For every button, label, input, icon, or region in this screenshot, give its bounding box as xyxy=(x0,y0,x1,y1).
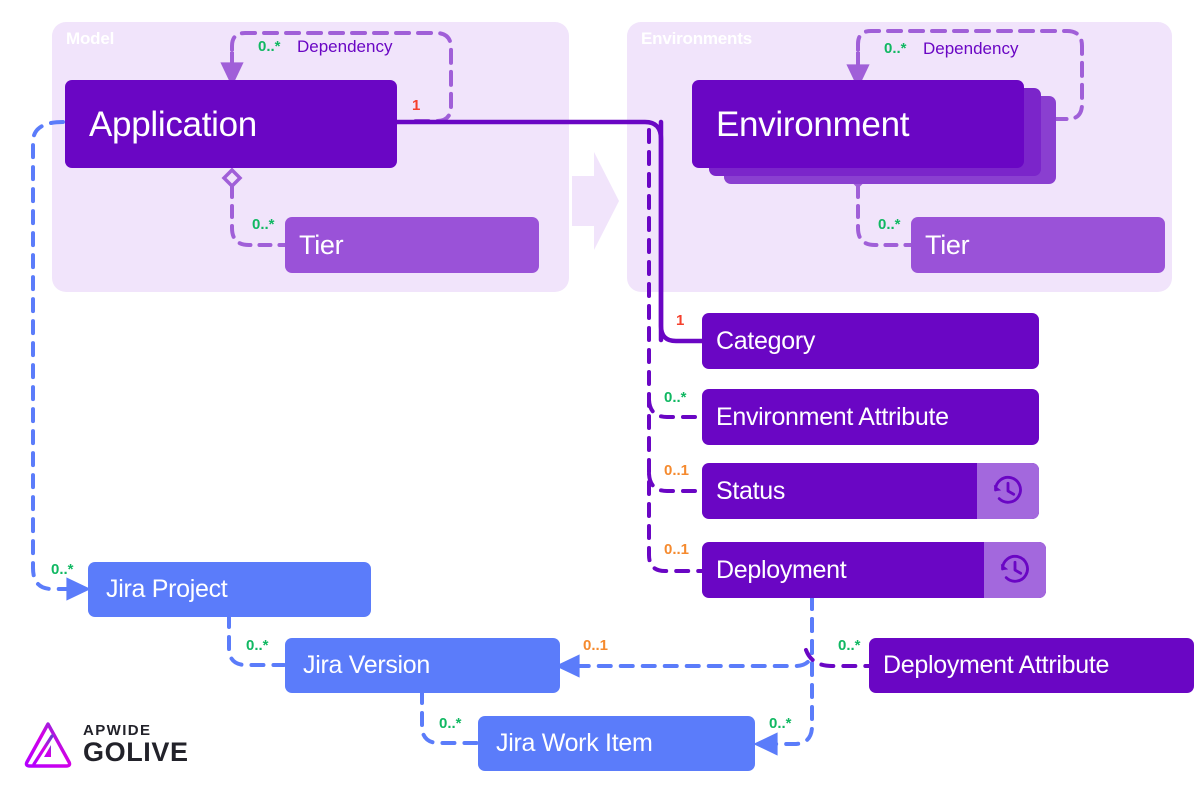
entity-jira-project-label: Jira Project xyxy=(88,577,227,602)
entity-deployment-attribute[interactable]: Deployment Attribute xyxy=(869,638,1194,693)
mult-deployment-deployment-attribute: 0..* xyxy=(838,638,861,653)
mult-environment-environment-attribute: 0..* xyxy=(664,390,687,405)
entity-environment-attribute-label: Environment Attribute xyxy=(702,405,949,430)
entity-tier-env[interactable]: Tier xyxy=(911,217,1165,273)
entity-jira-version-label: Jira Version xyxy=(285,653,430,678)
relname-environment-dependency: Dependency xyxy=(923,40,1018,57)
mult-application-jira-project: 0..* xyxy=(51,562,74,577)
mult-application-dependency-one: 1 xyxy=(412,98,420,113)
entity-environment[interactable]: Environment xyxy=(692,80,1024,168)
mult-environment-deployment: 0..1 xyxy=(664,542,689,557)
mult-application-dependency: 0..* xyxy=(258,39,281,54)
entity-category[interactable]: Category xyxy=(702,313,1039,369)
entity-category-label: Category xyxy=(702,329,815,354)
mult-application-tier: 0..* xyxy=(252,217,275,232)
mult-environment-status: 0..1 xyxy=(664,463,689,478)
entity-deployment-attribute-label: Deployment Attribute xyxy=(869,653,1109,678)
entity-tier-model-label: Tier xyxy=(285,232,343,259)
apwide-triangle-icon xyxy=(22,718,74,770)
mult-deployment-jira-version: 0..1 xyxy=(583,638,608,653)
mult-jira-project-jira-version: 0..* xyxy=(246,638,269,653)
entity-deployment-label: Deployment xyxy=(702,558,846,583)
mult-environment-dependency: 0..* xyxy=(884,41,907,56)
entity-tier-model[interactable]: Tier xyxy=(285,217,539,273)
entity-jira-project[interactable]: Jira Project xyxy=(88,562,371,617)
entity-application-label: Application xyxy=(65,107,257,142)
logo-brand-bottom: GOLIVE xyxy=(83,739,189,766)
apwide-golive-logo: APWIDE GOLIVE xyxy=(22,718,189,770)
link-deployment-jira-version xyxy=(568,597,812,666)
entity-status[interactable]: Status xyxy=(702,463,1039,519)
history-icon-deployment xyxy=(984,542,1046,598)
relname-application-dependency: Dependency xyxy=(297,38,392,55)
entity-jira-work-item[interactable]: Jira Work Item xyxy=(478,716,755,771)
entity-status-label: Status xyxy=(702,479,785,504)
entity-deployment[interactable]: Deployment xyxy=(702,542,1046,598)
mult-jira-version-jira-work-item: 0..* xyxy=(439,716,462,731)
diagram-canvas: Model Environments xyxy=(0,0,1200,800)
entity-environment-attribute[interactable]: Environment Attribute xyxy=(702,389,1039,445)
mult-environment-category: 1 xyxy=(676,313,684,328)
entity-application[interactable]: Application xyxy=(65,80,397,168)
logo-brand-top: APWIDE xyxy=(83,723,189,738)
history-icon-status xyxy=(977,463,1039,519)
panel-environments-title: Environments xyxy=(641,29,752,49)
mult-environment-tier: 0..* xyxy=(878,217,901,232)
mult-deployment-jira-work-item: 0..* xyxy=(769,716,792,731)
entity-tier-env-label: Tier xyxy=(911,232,969,259)
transition-arrow-icon xyxy=(572,148,620,254)
entity-jira-version[interactable]: Jira Version xyxy=(285,638,560,693)
panel-model-title: Model xyxy=(66,29,114,49)
entity-environment-label: Environment xyxy=(692,107,909,142)
entity-jira-work-item-label: Jira Work Item xyxy=(478,731,652,756)
